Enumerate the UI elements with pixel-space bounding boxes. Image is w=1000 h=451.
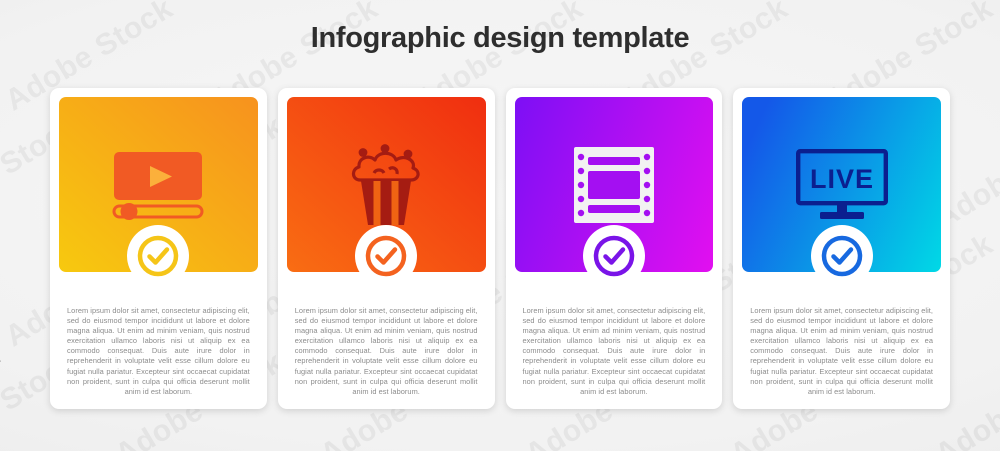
card-icon-panel bbox=[287, 97, 486, 272]
poster-canvas: Adobe StockAdobe StockAdobe StockAdobe S… bbox=[0, 0, 1000, 451]
infographic-card-row: Lorem ipsum dolor sit amet, consectetur … bbox=[50, 88, 950, 409]
status-badge bbox=[134, 232, 182, 280]
status-badge bbox=[590, 232, 638, 280]
infographic-card[interactable]: Lorem ipsum dolor sit amet, consectetur … bbox=[50, 88, 267, 409]
card-body-text: Lorem ipsum dolor sit amet, consectetur … bbox=[742, 306, 941, 397]
card-icon-panel: LIVE bbox=[742, 97, 941, 272]
card-body-text: Lorem ipsum dolor sit amet, consectetur … bbox=[59, 306, 258, 397]
card-body-text: Lorem ipsum dolor sit amet, consectetur … bbox=[287, 306, 486, 397]
card-icon-panel bbox=[59, 97, 258, 272]
page-title: Infographic design template bbox=[0, 22, 1000, 55]
card-body-text: Lorem ipsum dolor sit amet, consectetur … bbox=[515, 306, 714, 397]
infographic-card[interactable]: LIVE Lorem ipsum dolor sit amet, consect… bbox=[733, 88, 950, 409]
infographic-card[interactable]: Lorem ipsum dolor sit amet, consectetur … bbox=[506, 88, 723, 409]
infographic-card[interactable]: Lorem ipsum dolor sit amet, consectetur … bbox=[278, 88, 495, 409]
status-badge bbox=[362, 232, 410, 280]
card-icon-panel bbox=[515, 97, 714, 272]
stock-credit-text: Adobe Stock | #655895043 bbox=[0, 300, 1, 423]
svg-text:LIVE: LIVE bbox=[810, 164, 874, 194]
status-badge bbox=[818, 232, 866, 280]
